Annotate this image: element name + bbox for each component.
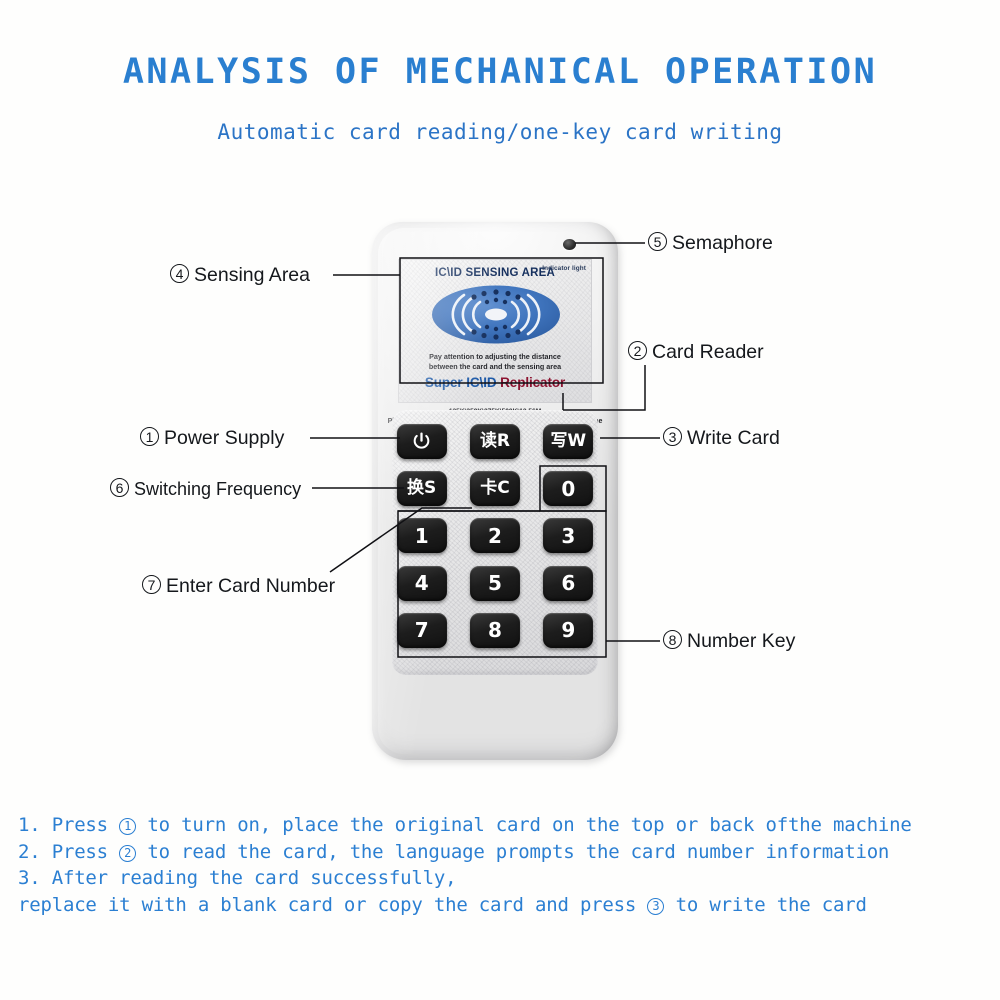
key-read[interactable]: 读R	[470, 424, 520, 459]
sensing-area-label: IC\ID SENSING AREA Indicator light	[398, 259, 592, 403]
instruction-steps: 1. Press 1 to turn on, place the origina…	[18, 812, 988, 918]
key-card[interactable]: 卡C	[470, 471, 520, 506]
step2-suffix: to read the card, the language prompts t…	[136, 841, 889, 863]
annotation-number-5: 5	[648, 232, 667, 251]
annotation-switching-frequency: 6Switching Frequency	[110, 478, 301, 500]
power-icon	[411, 431, 432, 452]
key-power[interactable]	[397, 424, 447, 459]
annotation-card-reader: 2Card Reader	[628, 341, 764, 364]
annotation-enter-card-number: 7Enter Card Number	[142, 575, 335, 598]
indicator-led-icon	[563, 239, 576, 250]
rfid-sensing-logo-icon	[430, 284, 562, 345]
step-line-2: 2. Press 2 to read the card, the languag…	[18, 839, 988, 866]
annotation-sensing-area: 4Sensing Area	[170, 264, 310, 287]
annotation-number-key: 8Number Key	[663, 630, 795, 653]
annotation-label-7: Enter Card Number	[166, 575, 335, 597]
annotation-label-4: Sensing Area	[194, 264, 310, 286]
annotation-write-card: 3Write Card	[663, 427, 780, 450]
label-brand: Super IC\ID Replicator	[399, 375, 591, 390]
key-0[interactable]: 0	[543, 471, 593, 506]
page-subtitle: Automatic card reading/one-key card writ…	[0, 120, 1000, 144]
key-1[interactable]: 1	[397, 518, 447, 553]
step-line-3: 3. After reading the card successfully,	[18, 865, 988, 892]
annotation-number-4: 4	[170, 264, 189, 283]
step4-suffix: to write the card	[664, 894, 866, 916]
brand-secondary: Replicator	[500, 375, 565, 390]
annotation-label-8: Number Key	[687, 630, 795, 652]
annotation-label-1: Power Supply	[164, 427, 284, 449]
diagram-canvas: ANALYSIS OF MECHANICAL OPERATION Automat…	[0, 0, 1000, 1000]
key-9[interactable]: 9	[543, 613, 593, 648]
annotation-number-7: 7	[142, 575, 161, 594]
annotation-power-supply: 1Power Supply	[140, 427, 284, 450]
step-line-4: replace it with a blank card or copy the…	[18, 892, 988, 919]
key-switch-frequency[interactable]: 换S	[397, 471, 447, 506]
step1-suffix: to turn on, place the original card on t…	[136, 814, 912, 836]
keypad-grid: 读R 写W 换S 卡C 0 1 2 3 4 5 6 7 8 9	[385, 418, 605, 654]
step1-ref: 1	[119, 818, 136, 835]
annotation-number-1: 1	[140, 427, 159, 446]
page-title: ANALYSIS OF MECHANICAL OPERATION	[0, 52, 1000, 92]
step4-ref: 3	[647, 898, 664, 915]
annotation-number-3: 3	[663, 427, 682, 446]
annotation-number-6: 6	[110, 478, 129, 497]
step2-ref: 2	[119, 845, 136, 862]
key-write[interactable]: 写W	[543, 424, 593, 459]
annotation-label-6: Switching Frequency	[134, 479, 301, 499]
key-3[interactable]: 3	[543, 518, 593, 553]
annotation-semaphore: 5Semaphore	[648, 232, 773, 255]
key-7[interactable]: 7	[397, 613, 447, 648]
brand-primary: Super IC\ID	[425, 375, 500, 390]
label-note-line2: between the card and the sensing area	[429, 362, 561, 371]
key-4[interactable]: 4	[397, 566, 447, 601]
annotation-number-2: 2	[628, 341, 647, 360]
annotation-number-8: 8	[663, 630, 682, 649]
label-note-line1: Pay attention to adjusting the distance	[429, 352, 561, 361]
key-8[interactable]: 8	[470, 613, 520, 648]
annotation-label-5: Semaphore	[672, 232, 773, 254]
key-5[interactable]: 5	[470, 566, 520, 601]
step-line-1: 1. Press 1 to turn on, place the origina…	[18, 812, 988, 839]
annotation-label-3: Write Card	[687, 427, 780, 449]
step2-prefix: 2. Press	[18, 841, 119, 863]
annotation-label-2: Card Reader	[652, 341, 764, 363]
step4-prefix: replace it with a blank card or copy the…	[18, 894, 647, 916]
indicator-light-note: Indicator light	[542, 265, 586, 272]
key-2[interactable]: 2	[470, 518, 520, 553]
key-6[interactable]: 6	[543, 566, 593, 601]
label-instruction-note: Pay attention to adjusting the distance …	[399, 352, 591, 371]
step1-prefix: 1. Press	[18, 814, 119, 836]
